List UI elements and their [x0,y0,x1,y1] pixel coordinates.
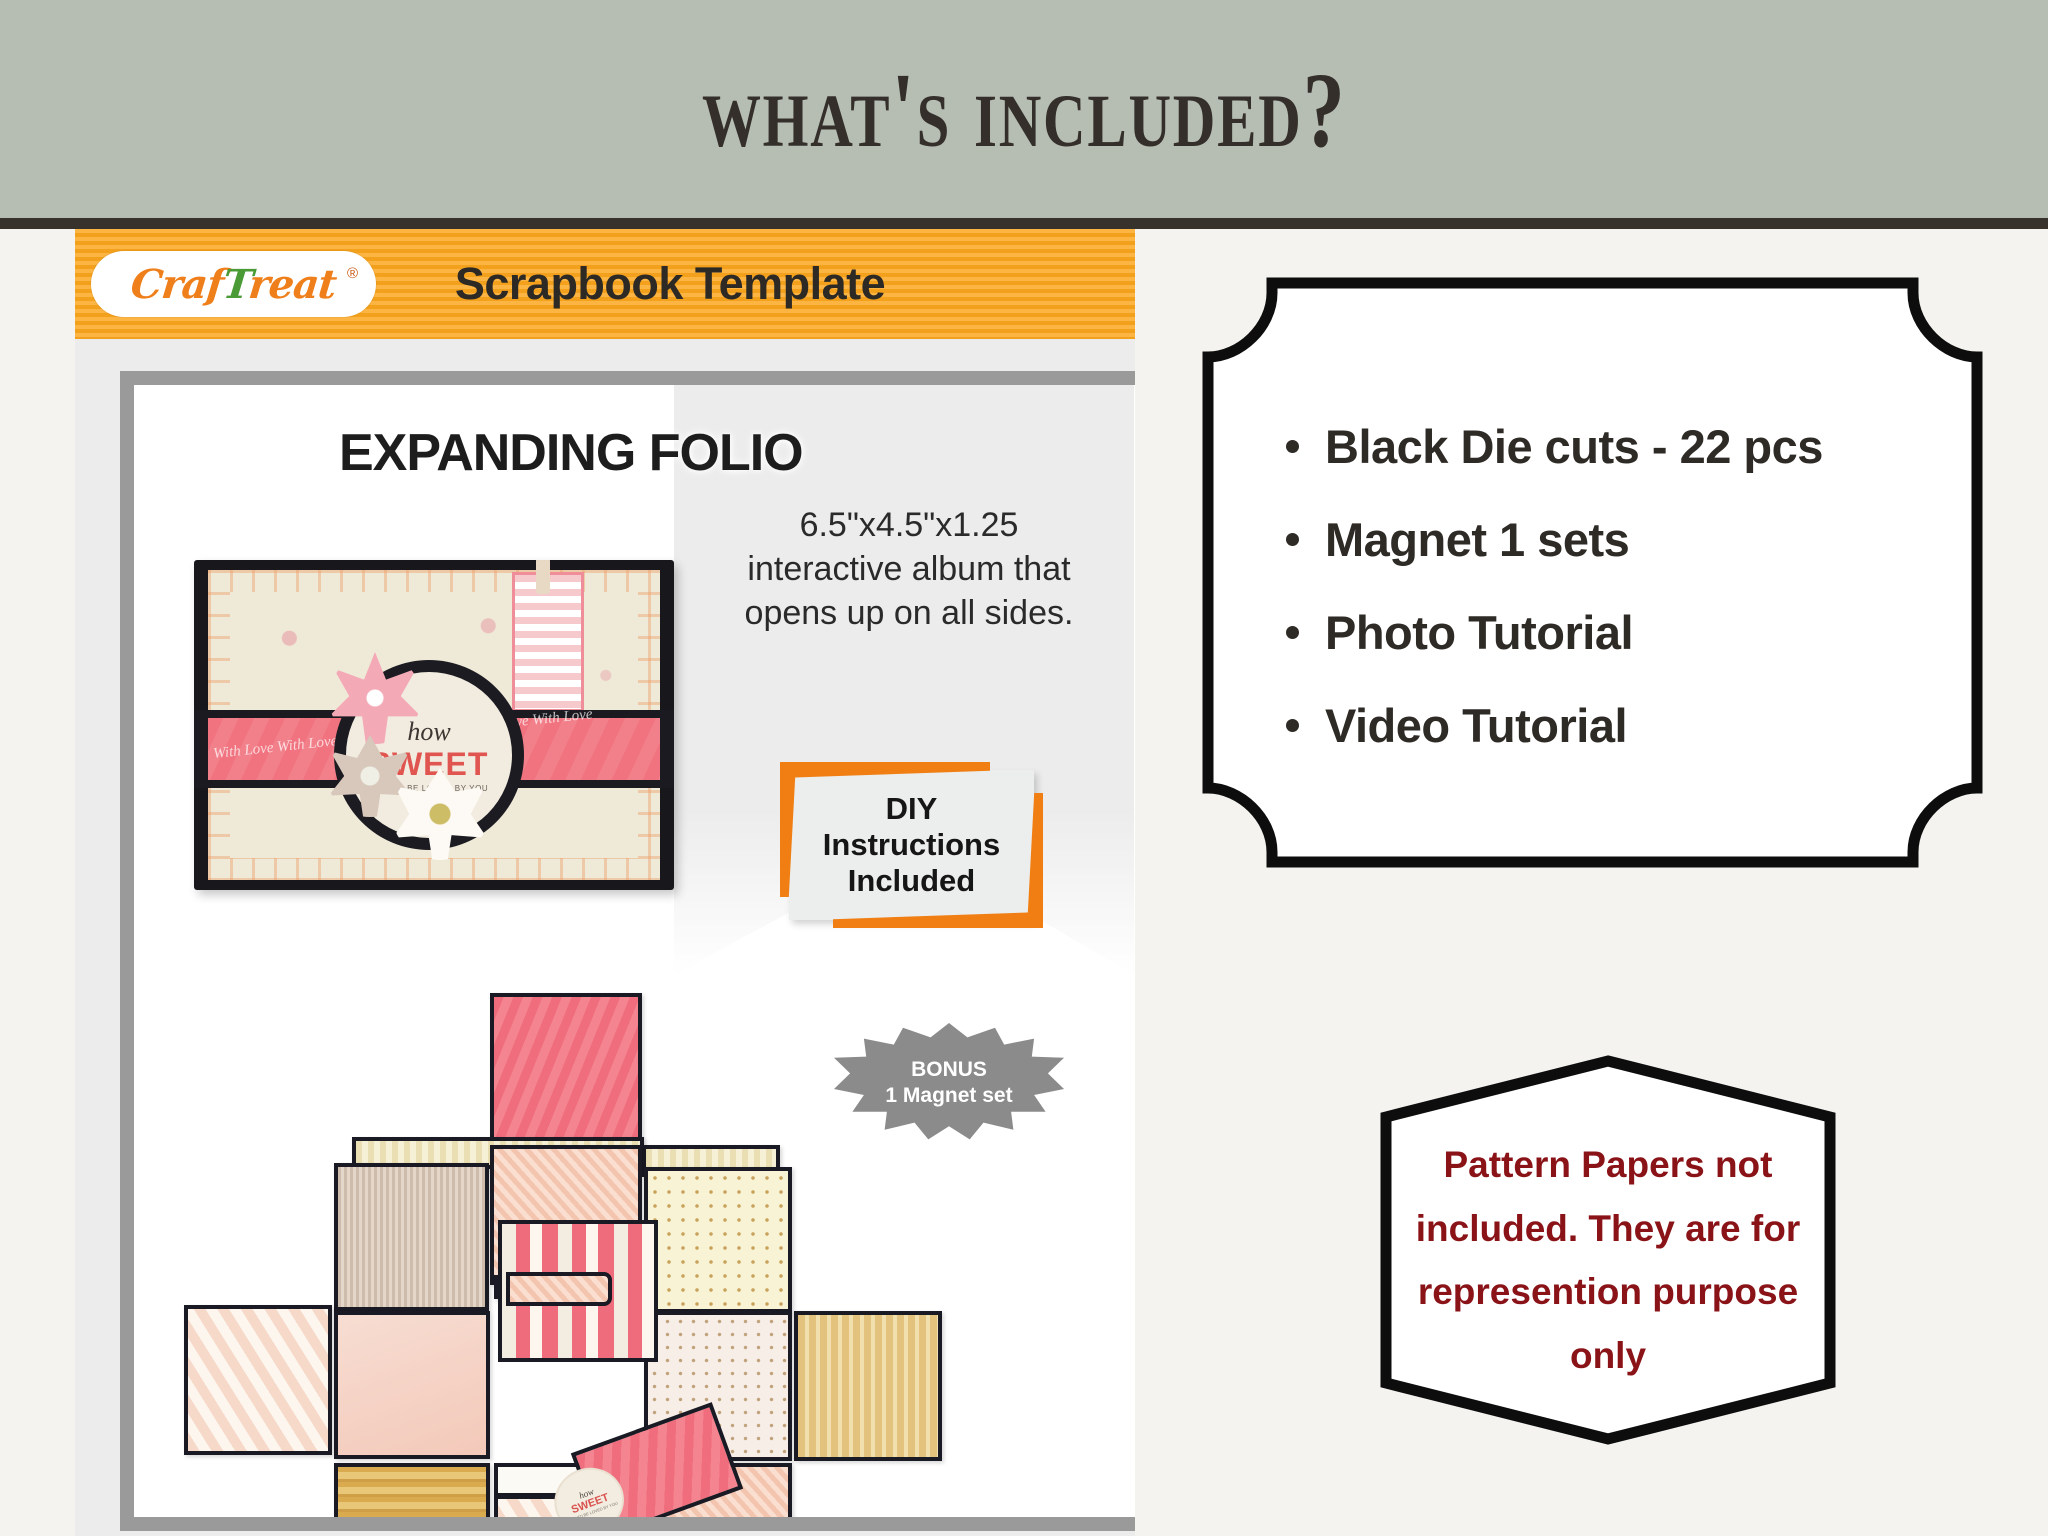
logo-text-craf: Craf [129,261,226,308]
diy-line-2: Instructions [823,827,1000,863]
list-item-label: Video Tutorial [1325,698,1627,753]
included-items: Black Die cuts - 22 pcs Magnet 1 sets Ph… [1286,361,1935,810]
folio-center-pull-tab [506,1272,612,1306]
folio-panel-far-right [794,1311,942,1461]
closed-album-image: how SWEET IT IS TO BE LOVED BY YOU [194,560,674,890]
list-item-label: Magnet 1 sets [1325,512,1629,567]
album-clothespin-icon [536,560,550,594]
disclaimer-text: Pattern Papers not included. They are fo… [1412,1133,1804,1388]
page-title: What's Included? [702,47,1347,171]
brand-banner: Scrapbook Template CrafTreat ® [75,229,1135,339]
registered-trademark-icon: ® [347,265,358,282]
expanded-folio-diagram: how SWEET IT IS TO BE LOVED BY YOU [172,985,972,1531]
list-item[interactable]: Magnet 1 sets [1286,512,1935,567]
craftreat-logo: CrafTreat ® [91,251,376,317]
bullet-dot-icon [1286,626,1299,639]
bullet-dot-icon [1286,719,1299,732]
disclaimer-note: Pattern Papers not included. They are fo… [1378,1055,1838,1445]
folio-panel-upper-left [334,1163,489,1311]
product-image-frame: EXPANDING FOLIO 6.5"x4.5"x1.25 interacti… [120,371,1135,1531]
folio-panel-far-left [184,1305,332,1455]
bullet-dot-icon [1286,533,1299,546]
included-list-frame: Black Die cuts - 22 pcs Magnet 1 sets Ph… [1200,275,1985,870]
list-item-label: Photo Tutorial [1325,605,1633,660]
list-item[interactable]: Black Die cuts - 22 pcs [1286,419,1935,474]
product-image-canvas: EXPANDING FOLIO 6.5"x4.5"x1.25 interacti… [134,385,1135,1517]
folio-panel-mid-left [334,1311,490,1459]
diy-badge-text: DIY Instructions Included [789,770,1034,920]
folio-panel-upper-right [644,1167,792,1313]
tag-script-text: how [407,717,450,747]
bullet-dot-icon [1286,440,1299,453]
diy-line-1: DIY [886,791,938,827]
logo-text-reat: reat [247,261,339,308]
folio-panel-top [490,993,642,1145]
folio-panel-lower-left-wood [334,1463,490,1531]
list-item[interactable]: Video Tutorial [1286,698,1935,753]
diy-instructions-badge: DIY Instructions Included [789,770,1034,920]
header-divider [0,218,2048,229]
product-card: Scrapbook Template CrafTreat ® EXPANDING… [75,229,1135,1536]
list-item-label: Black Die cuts - 22 pcs [1325,419,1823,474]
page-header: What's Included? [0,0,2048,218]
list-item[interactable]: Photo Tutorial [1286,605,1935,660]
diy-line-3: Included [848,863,975,899]
logo-wordmark: CrafTreat [129,261,339,308]
folio-spec-text: 6.5"x4.5"x1.25 interactive album that op… [744,503,1074,636]
folio-title: EXPANDING FOLIO [339,423,879,483]
folio-panel-center [498,1220,658,1362]
